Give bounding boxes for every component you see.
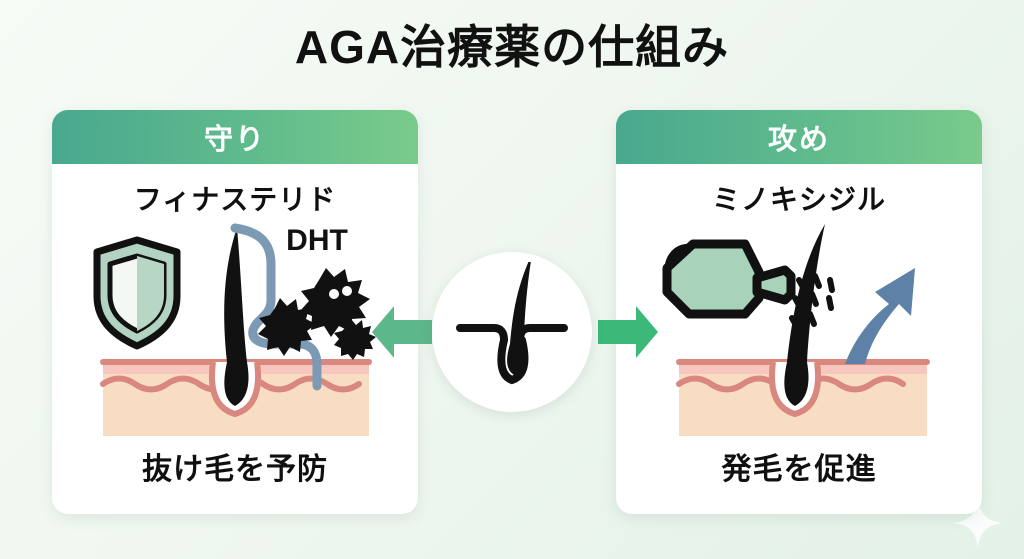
page-title: AGA治療薬の仕組み: [0, 22, 1024, 73]
card-defense-header: 守り: [52, 110, 418, 164]
center-hub: [432, 252, 592, 412]
card-offense-drug-name: ミノキシジル: [616, 178, 982, 218]
dht-germ-icon: [258, 268, 376, 360]
hair-follicle-icon: [772, 224, 825, 414]
hair-follicle-icon: [442, 262, 582, 402]
card-offense: 攻め ミノキシジル: [616, 110, 982, 514]
card-defense-drug-name: フィナステリド: [52, 178, 418, 218]
dht-label: DHT: [286, 224, 348, 257]
growth-arrow-icon: [845, 268, 915, 364]
watering-can-icon: [667, 244, 791, 314]
card-offense-caption: 発毛を促進: [616, 444, 982, 488]
card-defense-caption: 抜け毛を予防: [52, 444, 418, 488]
card-defense-illustration: DHT: [52, 222, 418, 440]
arrow-left-icon: [372, 306, 432, 358]
hair-follicle-icon: [212, 228, 258, 414]
card-offense-header: 攻め: [616, 110, 982, 164]
card-offense-illustration: [616, 222, 982, 440]
arrow-right-icon: [598, 306, 658, 358]
infographic-canvas: AGA治療薬の仕組み 守り フィナステリド: [0, 0, 1024, 559]
card-defense: 守り フィナステリド: [52, 110, 418, 514]
shield-icon: [97, 240, 177, 346]
